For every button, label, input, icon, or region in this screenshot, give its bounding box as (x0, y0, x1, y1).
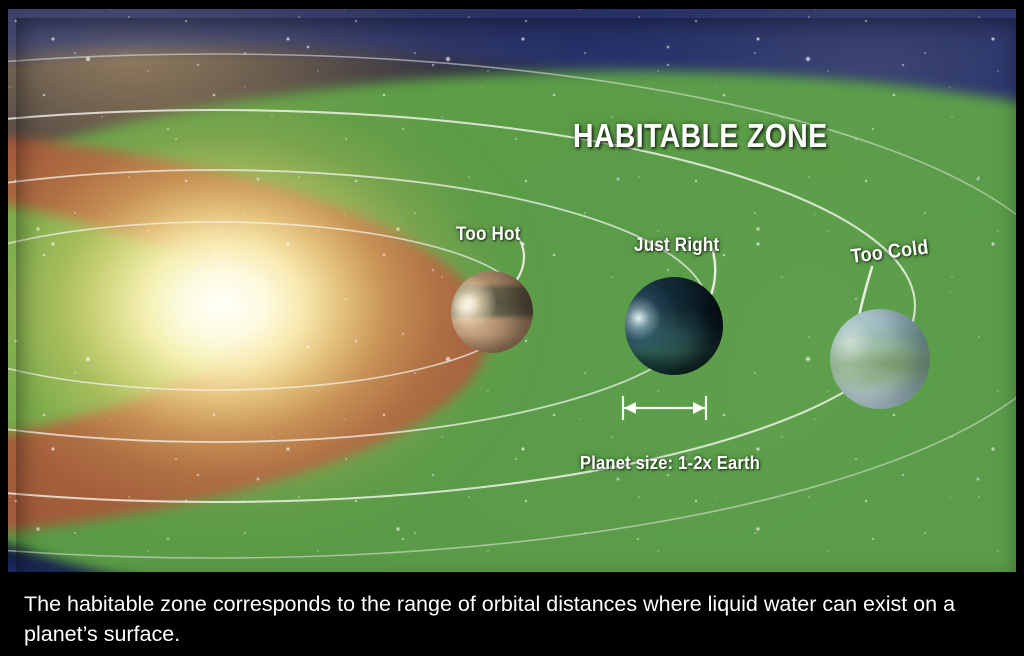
planet-too-hot (451, 271, 533, 353)
planet-just-right (625, 277, 723, 375)
habitable-zone-illustration: HABITABLE ZONE Too Hot Just Right Too Co… (8, 9, 1016, 578)
figure-page: HABITABLE ZONE Too Hot Just Right Too Co… (0, 0, 1024, 656)
figure-caption: The habitable zone corresponds to the ra… (0, 580, 1024, 656)
planet-too-cold (830, 309, 930, 409)
